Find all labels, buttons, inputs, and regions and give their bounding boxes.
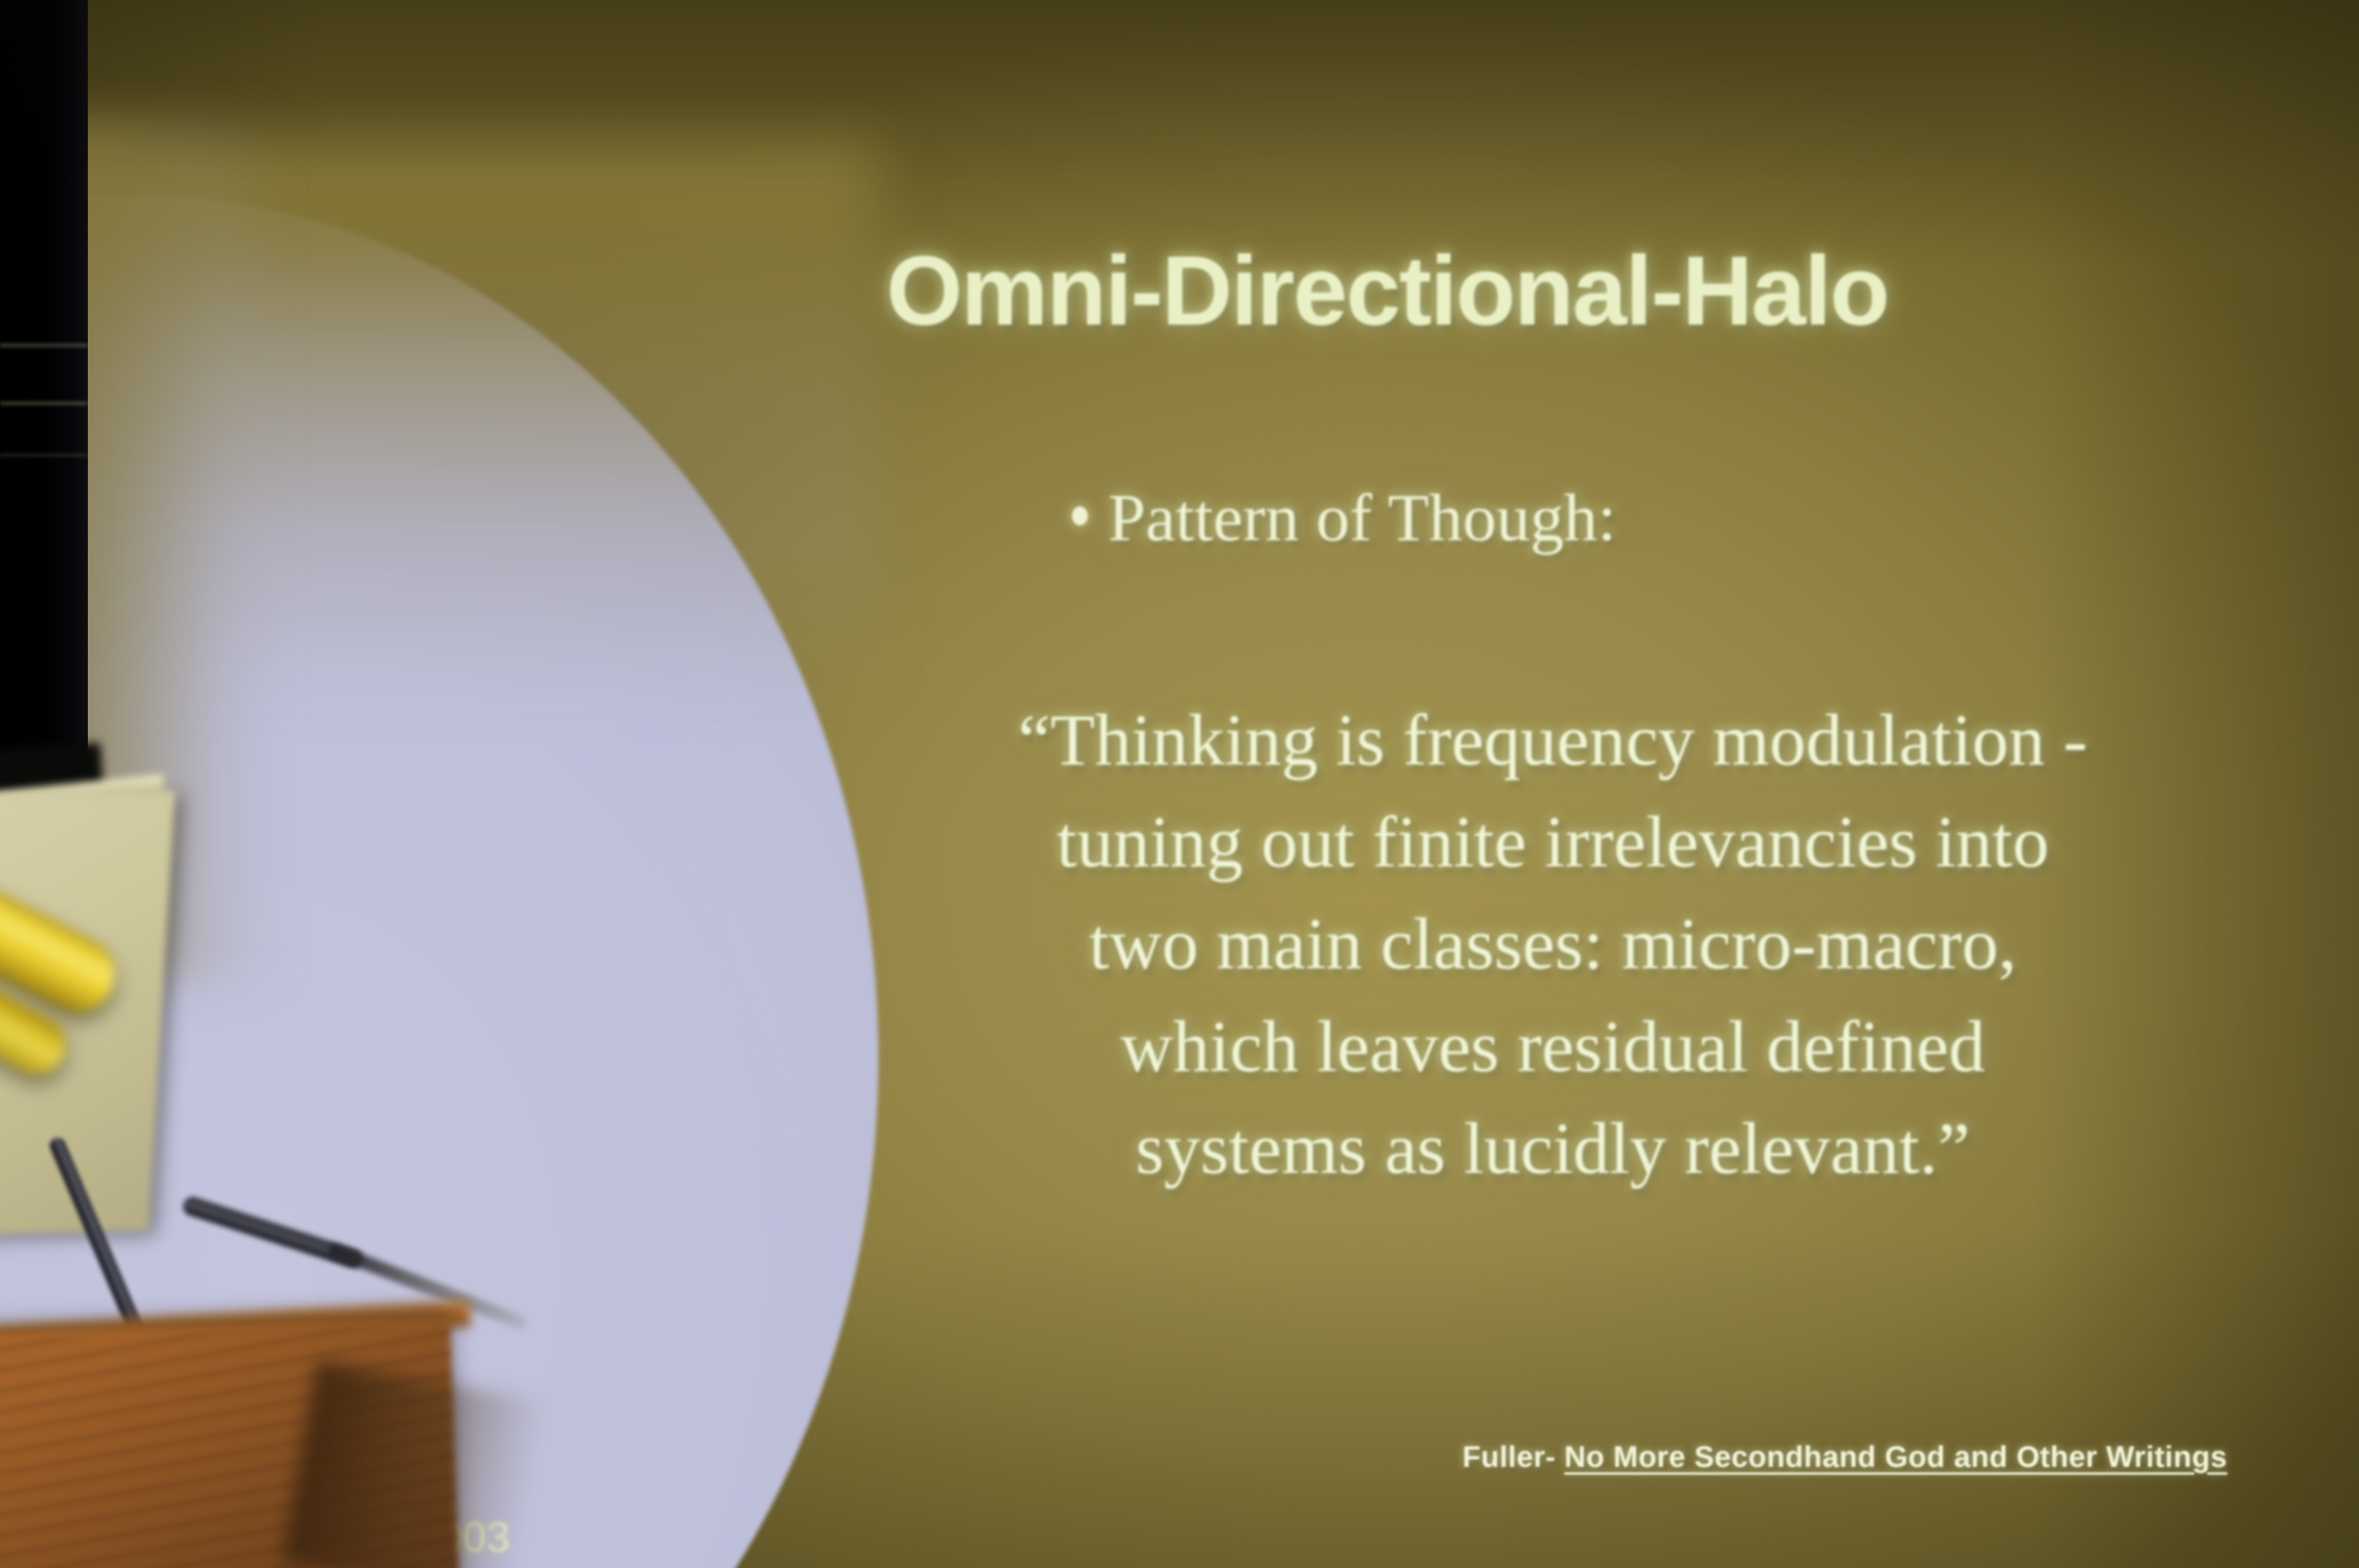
slide-title: Omni-Directional-Halo xyxy=(0,235,2359,347)
wall-seam-line xyxy=(0,453,88,457)
quote-line: systems as lucidly relevant.” xyxy=(863,1098,2243,1200)
quote-line: “Thinking is frequency modulation - xyxy=(863,690,2243,792)
projected-slide-photograph: Omni-Directional-Halo Pattern of Though:… xyxy=(0,0,2359,1568)
bullet-item-label: Pattern of Though: xyxy=(1108,480,1616,555)
bullet-item-pattern-of-though: Pattern of Though: xyxy=(0,478,2359,557)
slide-citation: Fuller- No More Secondhand God and Other… xyxy=(1396,1441,2227,1475)
quote-line: tuning out finite irrelevancies into xyxy=(863,792,2243,894)
bullet-dot-icon xyxy=(1072,506,1088,525)
wall-seam-line xyxy=(0,343,88,347)
quote-line: which leaves residual defined xyxy=(863,996,2243,1098)
quote-block: “Thinking is frequency modulation - tuni… xyxy=(863,690,2243,1200)
citation-work-title: No More Secondhand God and Other Writing… xyxy=(1565,1441,2227,1474)
citation-author: Fuller- xyxy=(1463,1441,1565,1474)
dark-wall-strip xyxy=(0,0,88,843)
quote-line: two main classes: micro-macro, xyxy=(863,894,2243,996)
wall-seam-line xyxy=(0,401,88,405)
